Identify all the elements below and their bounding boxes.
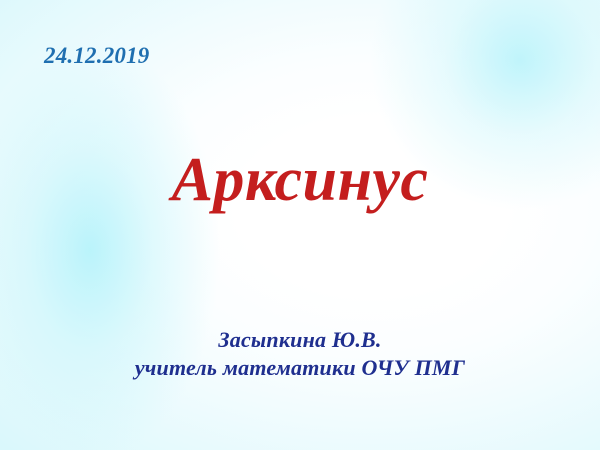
presentation-slide: 24.12.2019 Арксинус Засыпкина Ю.В. учите… bbox=[0, 0, 600, 450]
author-role: учитель математики ОЧУ ПМГ bbox=[0, 354, 600, 382]
slide-date: 24.12.2019 bbox=[44, 42, 150, 70]
slide-title: Арксинус bbox=[0, 148, 600, 213]
slide-content-layer: 24.12.2019 Арксинус Засыпкина Ю.В. учите… bbox=[0, 0, 600, 450]
author-name: Засыпкина Ю.В. bbox=[0, 326, 600, 354]
author-block: Засыпкина Ю.В. учитель математики ОЧУ ПМ… bbox=[0, 326, 600, 382]
